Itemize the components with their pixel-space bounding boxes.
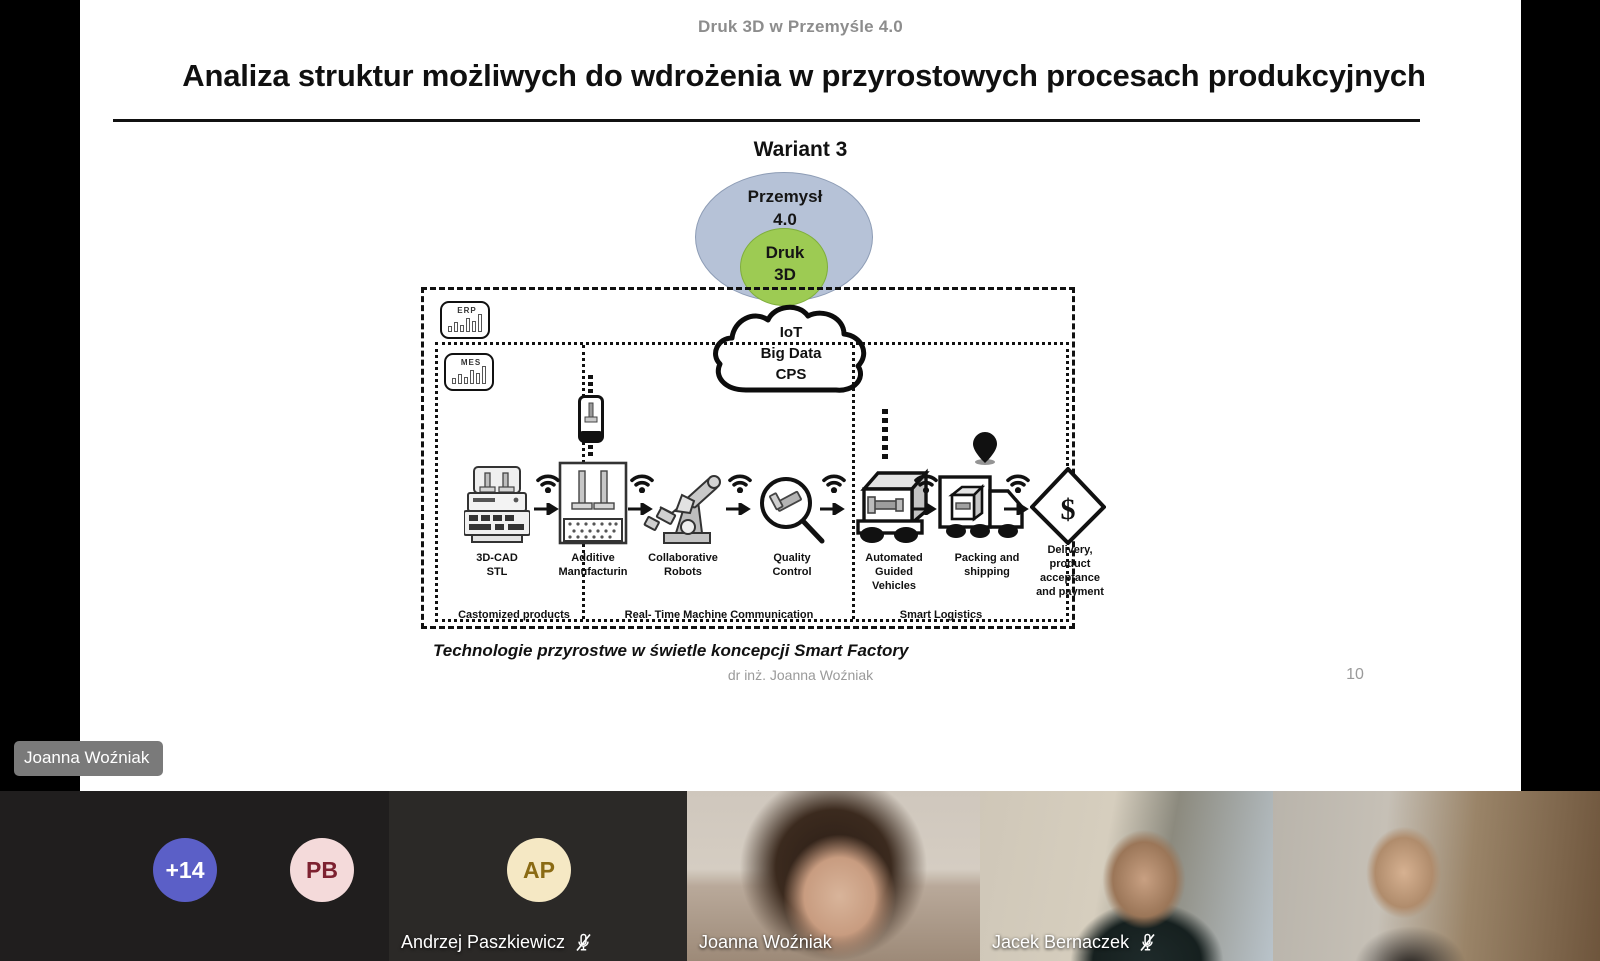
arrow-icon-6 [1004,503,1030,515]
slide-page-number: 10 [1335,666,1375,684]
location-pin-icon [972,431,998,465]
zone-label-customized-products: Castomized products [444,609,584,621]
svg-text:$: $ [1061,493,1076,526]
wifi-icon-1 [534,473,562,493]
participant-tile-5[interactable] [1273,791,1600,961]
zone-label-smart-logistics: Smart Logistics [858,609,1024,621]
presentation-slide[interactable]: Druk 3D w Przemyśle 4.0 Analiza struktur… [80,0,1521,791]
arrow-icon-4 [820,503,846,515]
cloud-line-cps: CPS [706,364,876,385]
banknote-icon: $ [1030,467,1106,545]
industry-40-label: Przemysł 4.0 [696,185,874,231]
druk-3d-line1: Druk [741,242,829,264]
participant-filmstrip: +14 PB AP Andrzej Paszkiewicz [0,791,1600,961]
shared-slide-stage: Druk 3D w Przemyśle 4.0 Analiza struktur… [0,0,1600,791]
participant-name-text: Andrzej Paszkiewicz [401,932,565,953]
video-feed-5 [1273,791,1600,961]
mes-bar-chart-icon [452,364,490,384]
druk-3d-line2: 3D [741,264,829,286]
node-label-3d-cad: 3D-CAD STL [449,551,545,579]
participant-name-text: Joanna Woźniak [699,932,832,953]
zone-label-rtmc: Real- Time Machine Communication [588,609,850,621]
participant-name-joanna: Joanna Woźniak [699,932,970,953]
arrow-icon-2 [628,503,654,515]
erp-bar-chart-icon [448,312,486,332]
smartphone-icon [578,395,604,443]
avatar-ap-initials: AP [523,857,555,884]
workstation-icon [464,465,530,545]
node-label-collaborative-robots: Collaborative Robots [635,551,731,579]
magnifier-icon [756,475,828,547]
node-label-quality-control: Quality Control [744,551,840,579]
participant-tile-joanna[interactable]: Joanna Woźniak [687,791,980,961]
wifi-icon-2 [628,473,656,493]
avatar-overflow-count[interactable]: +14 [153,838,217,902]
cloud-line-bigdata: Big Data [706,343,876,364]
wifi-icon-4 [820,473,848,493]
agv-link-dots-upper [882,409,889,465]
arrow-icon-5 [912,503,938,515]
druk-3d-label: Druk 3D [741,242,829,286]
slide-title: Analiza struktur możliwych do wdrożenia … [114,58,1494,94]
variant-label: Wariant 3 [80,138,1521,162]
title-underline [113,119,1420,122]
node-label-agv: Automated Guided Vehicles [846,551,942,593]
avatar-ap[interactable]: AP [507,838,571,902]
slide-kicker: Druk 3D w Przemyśle 4.0 [80,17,1521,37]
participant-tile-andrzej[interactable]: AP Andrzej Paszkiewicz [389,791,687,961]
wifi-icon-5 [912,473,940,493]
participant-tile-overflow[interactable]: +14 PB [0,791,389,961]
slide-footer-author: dr inż. Joanna Woźniak [80,667,1521,683]
mic-muted-icon [575,933,592,952]
avatar-overflow-initials: +14 [165,857,204,884]
active-speaker-pill: Joanna Woźniak [14,741,163,776]
wifi-icon-3 [726,473,754,493]
meeting-screen-share-view: Druk 3D w Przemyśle 4.0 Analiza struktur… [0,0,1600,961]
cloud-line-iot: IoT [706,322,876,343]
arrow-icon-3 [726,503,752,515]
participant-tile-jacek[interactable]: Jacek Bernaczek [980,791,1273,961]
phone-link-dots-lower [588,445,594,459]
avatar-pb[interactable]: PB [290,838,354,902]
participant-name-jacek: Jacek Bernaczek [992,932,1263,953]
arrow-icon-1 [534,503,560,515]
phone-link-dots [588,375,594,397]
participant-name-text: Jacek Bernaczek [992,932,1129,953]
erp-badge: ERP [440,301,490,339]
participant-name-andrzej: Andrzej Paszkiewicz [401,932,677,953]
diagram-caption: Technologie przyrostwe w świetle koncepc… [433,641,909,661]
node-label-additive: Additive Manufacturin [545,551,641,579]
wifi-icon-6 [1004,473,1032,493]
mic-muted-icon [1139,933,1156,952]
cloud-text: IoT Big Data CPS [706,322,876,385]
avatar-pb-initials: PB [306,857,338,884]
node-label-packing-shipping: Packing and shipping [939,551,1035,579]
3d-printer-icon [558,461,628,545]
mes-badge: MES [444,353,494,391]
node-label-delivery-payment: Delivery, product acceptance and payment [1022,543,1118,599]
industry-40-line1: Przemysł [696,185,874,208]
